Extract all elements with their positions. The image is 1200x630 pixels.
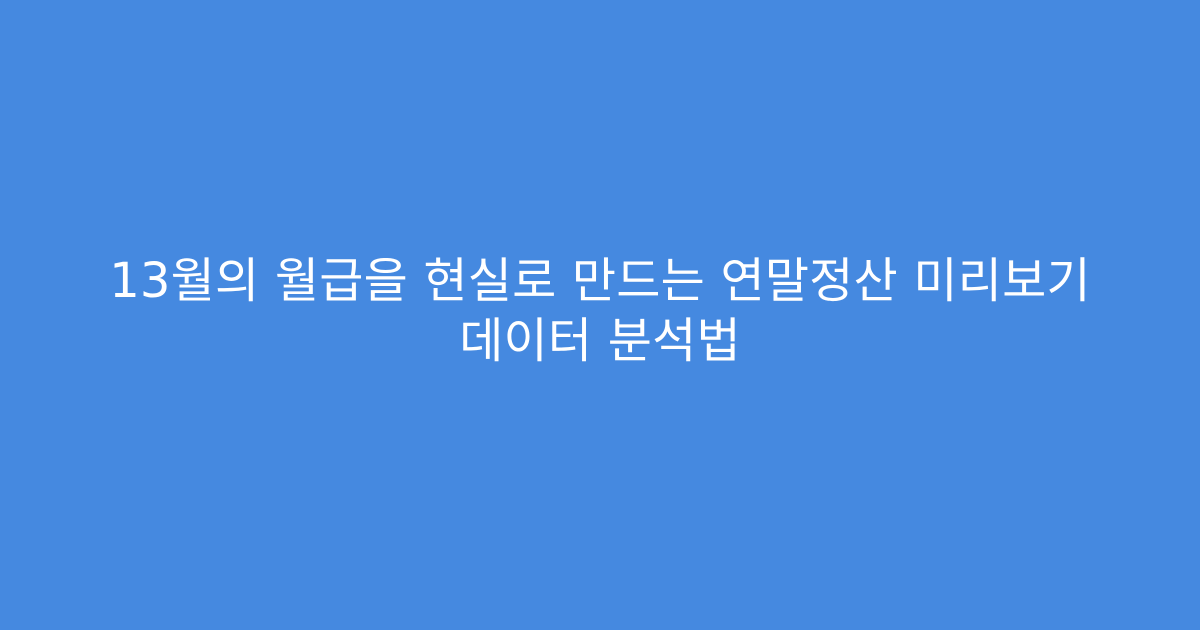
headline-line-2: 데이터 분석법 — [60, 311, 1140, 371]
headline-line-1: 13월의 월급을 현실로 만드는 연말정산 미리보기 — [60, 251, 1140, 311]
headline-block: 13월의 월급을 현실로 만드는 연말정산 미리보기 데이터 분석법 — [40, 251, 1160, 371]
title-card: 13월의 월급을 현실로 만드는 연말정산 미리보기 데이터 분석법 — [0, 0, 1200, 630]
page-title: 13월의 월급을 현실로 만드는 연말정산 미리보기 데이터 분석법 — [60, 251, 1140, 371]
